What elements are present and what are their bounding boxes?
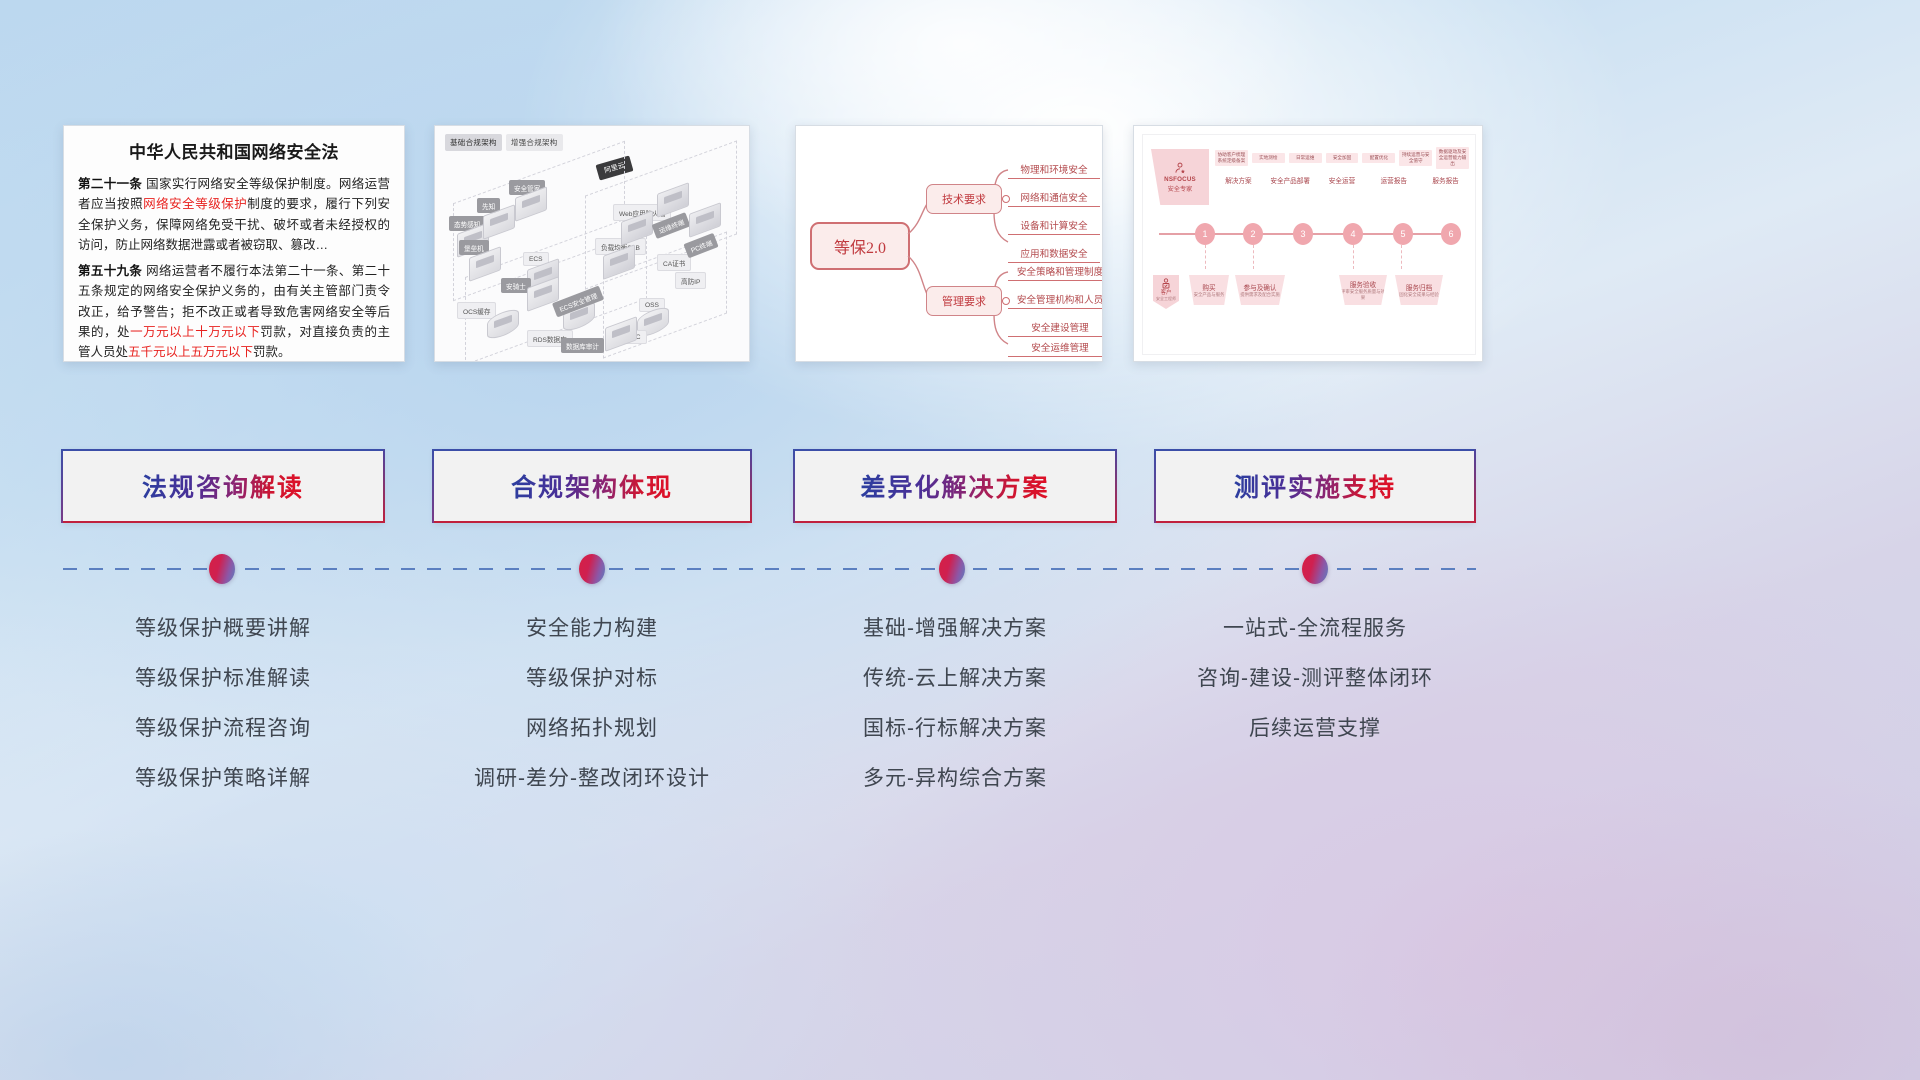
node-anti-ddos-ip: 高防IP: [675, 272, 706, 289]
service-top-label: 配置优化: [1362, 153, 1395, 163]
list-item: 等级保护标准解读: [63, 654, 383, 704]
list-item: 后续运营支撑: [1156, 704, 1474, 754]
law-text: 罚款。: [253, 345, 291, 359]
pillar-list-compliance-architecture: 安全能力构建 等级保护对标 网络拓扑规划 调研-差分-整改闭环设计: [434, 604, 750, 804]
service-card-title: 参与及确认: [1244, 282, 1277, 292]
service-top-label: 安全加固: [1326, 153, 1359, 163]
pillar-title: 差异化解决方案: [860, 468, 1049, 504]
pillar-list-assessment-support: 一站式-全流程服务 咨询-建设-测评整体闭环 后续运营支撑: [1156, 604, 1474, 754]
pillar-heading-assessment-support[interactable]: 测评实施支持: [1156, 449, 1474, 523]
mindmap-leaf: 网络和通信安全: [1008, 190, 1100, 207]
list-item: 传统-云上解决方案: [795, 654, 1115, 704]
timeline-dot[interactable]: [1302, 554, 1328, 584]
service-top-label: 实地测绘: [1252, 153, 1285, 163]
node-ca-certificate: CA证书: [657, 254, 691, 271]
service-top-labels: 协助客户梳理系统定级备案 实地测绘 日常运维 安全加固 配置优化 持续运营与安全…: [1215, 149, 1469, 167]
pillar-headings: 法规咨询解读 合规架构体现 差异化解决方案 测评实施支持: [0, 449, 1920, 521]
card-cloud-architecture[interactable]: 基础合规架构 增强合规架构 阿里云 态势感知 先知 安全管家 堡垒机 ECS: [434, 125, 750, 362]
list-item: 安全能力构建: [434, 604, 750, 654]
brand-subtitle: 安全专家: [1168, 184, 1193, 193]
service-sub-label: 服务报告: [1422, 175, 1469, 185]
service-bottom-card: 购买 安全产品与服务: [1189, 275, 1229, 305]
brand-banner: NSFOCUS 安全专家: [1151, 149, 1209, 205]
law-paragraph-1: 第二十一条 国家实行网络安全等级保护制度。网络运营者应当按照网络安全等级保护制度…: [78, 174, 390, 255]
list-item: 等级保护概要讲解: [63, 604, 383, 654]
expert-person-icon: [1173, 161, 1187, 175]
pillar-heading-differentiated-solution[interactable]: 差异化解决方案: [795, 449, 1115, 523]
service-bottom-card: 参与及确认 提供需求及配合实施: [1235, 275, 1285, 305]
customer-title: 客户: [1161, 288, 1172, 296]
list-item: 国标-行标解决方案: [795, 704, 1115, 754]
service-bottom-card: 服务验收 评审安全服务质量与效果: [1339, 275, 1387, 305]
service-top-label: 日常运维: [1289, 153, 1322, 163]
timeline-dashed-line: [63, 568, 1476, 570]
service-connector: [1205, 245, 1206, 269]
architecture-tabs: 基础合规架构 增强合规架构: [445, 134, 563, 151]
service-sub-label: 解决方案: [1215, 175, 1262, 185]
tab-enhanced-architecture[interactable]: 增强合规架构: [506, 134, 563, 151]
list-item: 一站式-全流程服务: [1156, 604, 1474, 654]
customer-person-icon: [1160, 277, 1172, 289]
service-card-title: 购买: [1202, 282, 1215, 292]
law-title: 中华人民共和国网络安全法: [78, 138, 390, 163]
law-highlight: 一万元以上十万元以下: [130, 325, 260, 339]
timeline: [63, 568, 1476, 570]
timeline-dot[interactable]: [209, 554, 235, 584]
law-paragraph-2: 第五十九条 网络运营者不履行本法第二十一条、第二十五条规定的网络安全保护义务的，…: [78, 261, 390, 362]
tab-basic-architecture[interactable]: 基础合规架构: [445, 134, 502, 151]
service-card-desc: 安全产品与服务: [1194, 292, 1225, 298]
mindmap-leaf: 应用和数据安全: [1008, 246, 1100, 263]
law-highlight: 五千元以上五万元以下: [128, 345, 253, 359]
mindmap-leaf: 安全运维管理: [1008, 340, 1103, 357]
node-ocs-cache: OCS缓存: [457, 302, 496, 319]
service-connector: [1353, 245, 1354, 269]
service-card-desc: 提供需求及配合实施: [1240, 292, 1280, 298]
pillar-heading-compliance-architecture[interactable]: 合规架构体现: [434, 449, 750, 523]
service-connector: [1401, 245, 1402, 269]
card-cybersecurity-law[interactable]: 中华人民共和国网络安全法 第二十一条 国家实行网络安全等级保护制度。网络运营者应…: [63, 125, 405, 362]
service-sub-label: 运营报告: [1370, 175, 1417, 185]
mindmap-branch-technical: 技术要求: [926, 184, 1002, 214]
mindmap-leaf: 物理和环境安全: [1008, 162, 1100, 179]
node-db-audit: 数据库审计: [561, 338, 604, 353]
service-step: 4: [1343, 223, 1363, 245]
mindmap-branch-management: 管理要求: [926, 286, 1002, 316]
mindmap-leaf: 安全管理机构和人员: [1008, 292, 1103, 309]
list-item: 网络拓扑规划: [434, 704, 750, 754]
mindmap-leaf: 设备和计算安全: [1008, 218, 1100, 235]
list-item: 等级保护对标: [434, 654, 750, 704]
service-sub-labels: 解决方案 安全产品部署 安全运营 运营报告 服务报告: [1215, 171, 1469, 189]
service-step: 2: [1243, 223, 1263, 245]
pillar-item-lists: 等级保护概要讲解 等级保护标准解读 等级保护流程咨询 等级保护策略详解 安全能力…: [0, 604, 1920, 824]
list-item: 等级保护策略详解: [63, 754, 383, 804]
card-mindmap[interactable]: 等保2.0 技术要求 物理和环境安全 网络和通信安全 设备和计算安全 应用和数据…: [795, 125, 1103, 362]
brand-name: NSFOCUS: [1164, 176, 1196, 183]
service-sub-label: 安全产品部署: [1267, 175, 1314, 185]
pillar-list-differentiated-solution: 基础-增强解决方案 传统-云上解决方案 国标-行标解决方案 多元-异构综合方案: [795, 604, 1115, 804]
card-service-timeline[interactable]: NSFOCUS 安全专家 协助客户梳理系统定级备案 实地测绘 日常运维 安全加固…: [1133, 125, 1483, 362]
service-bottom-card: 服务归档 固化安全成果与经验: [1395, 275, 1443, 305]
service-card-title: 服务归档: [1406, 282, 1432, 292]
customer-subtitle: 安全工程师: [1156, 296, 1176, 302]
service-connector: [1253, 245, 1254, 269]
service-step: 6: [1441, 223, 1461, 245]
pillar-title: 法规咨询解读: [142, 468, 304, 504]
mindmap-leaf: 安全策略和管理制度: [1008, 264, 1103, 281]
mindmap-leaf: 安全建设管理: [1008, 320, 1103, 337]
service-card-title: 服务验收: [1350, 279, 1376, 289]
list-item: 咨询-建设-测评整体闭环: [1156, 654, 1474, 704]
pillar-title: 测评实施支持: [1234, 468, 1396, 504]
service-top-label: 协助客户梳理系统定级备案: [1215, 150, 1248, 165]
list-item: 等级保护流程咨询: [63, 704, 383, 754]
service-card-desc: 评审安全服务质量与效果: [1339, 289, 1387, 300]
service-top-label: 持续运营与安全值守: [1399, 150, 1432, 165]
service-step: 3: [1293, 223, 1313, 245]
law-article-label: 第二十一条: [78, 177, 142, 191]
service-customer: 客户 安全工程师: [1153, 275, 1179, 309]
service-step: 1: [1195, 223, 1215, 245]
service-top-label: 数据驱动及安全运营能力输出: [1436, 147, 1469, 168]
list-item: 基础-增强解决方案: [795, 604, 1115, 654]
list-item: 调研-差分-整改闭环设计: [434, 754, 750, 804]
pillar-list-regulation-consulting: 等级保护概要讲解 等级保护标准解读 等级保护流程咨询 等级保护策略详解: [63, 604, 383, 804]
timeline-dot[interactable]: [579, 554, 605, 584]
service-card-desc: 固化安全成果与经验: [1399, 292, 1439, 298]
pillar-heading-regulation-consulting[interactable]: 法规咨询解读: [63, 449, 383, 523]
service-sub-label: 安全运营: [1319, 175, 1366, 185]
law-article-label: 第五十九条: [78, 264, 142, 278]
service-step: 5: [1393, 223, 1413, 245]
law-highlight: 网络安全等级保护: [143, 197, 247, 211]
timeline-dot[interactable]: [939, 554, 965, 584]
preview-cards: 中华人民共和国网络安全法 第二十一条 国家实行网络安全等级保护制度。网络运营者应…: [0, 125, 1920, 361]
pillar-title: 合规架构体现: [511, 468, 673, 504]
list-item: 多元-异构综合方案: [795, 754, 1115, 804]
